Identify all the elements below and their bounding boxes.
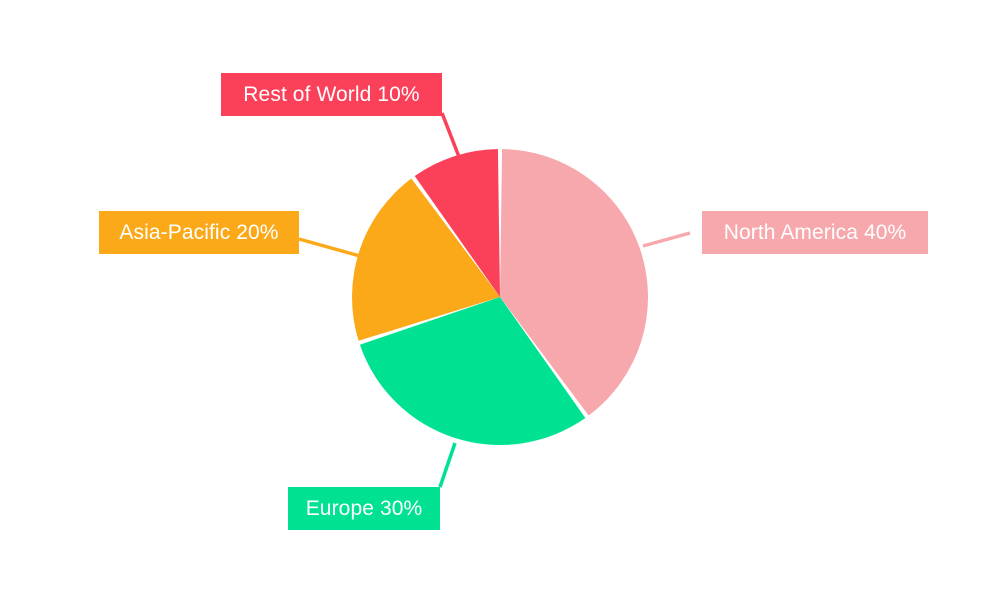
leader-line-rest-of-world: [442, 113, 461, 162]
slice-label-europe[interactable]: Europe 30%: [288, 487, 440, 530]
slice-label-text: Rest of World 10%: [243, 84, 419, 105]
slice-label-text: North America 40%: [724, 222, 907, 243]
slice-label-text: Asia-Pacific 20%: [119, 222, 278, 243]
pie-chart-figure: North America 40% Europe 30% Asia-Pacifi…: [0, 0, 1000, 600]
slice-label-asia-pacific[interactable]: Asia-Pacific 20%: [99, 211, 299, 254]
slice-label-north-america[interactable]: North America 40%: [702, 211, 928, 254]
slice-label-rest-of-world[interactable]: Rest of World 10%: [221, 73, 442, 116]
pie-slices: [352, 149, 648, 445]
leader-line-europe: [440, 443, 455, 487]
pie-chart-canvas: [0, 0, 1000, 600]
leader-line-asia-pacific: [299, 239, 360, 256]
leader-line-north-america: [643, 233, 690, 246]
slice-label-text: Europe 30%: [306, 498, 423, 519]
